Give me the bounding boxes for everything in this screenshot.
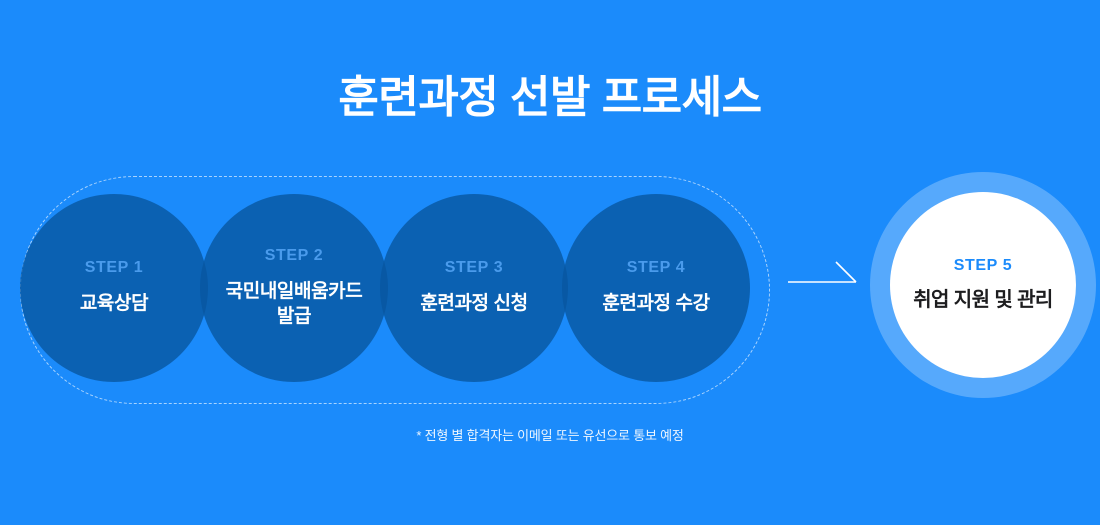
step-4-number: STEP 4	[627, 259, 685, 277]
step-3-number: STEP 3	[445, 259, 503, 277]
footnote-text: * 전형 별 합격자는 이메일 또는 유선으로 통보 예정	[0, 425, 1100, 444]
process-diagram: 훈련과정 선발 프로세스 STEP 1 교육상담 STEP 2 국민내일배움카드…	[0, 0, 1100, 525]
step-2-number: STEP 2	[265, 247, 323, 265]
process-step-1: STEP 1 교육상담	[20, 194, 208, 382]
step-5-label: 취업 지원 및 관리	[913, 287, 1052, 313]
process-step-2: STEP 2 국민내일배움카드 발급	[200, 194, 388, 382]
process-step-5: STEP 5 취업 지원 및 관리	[890, 192, 1076, 378]
step-5-number: STEP 5	[954, 257, 1012, 275]
step-2-label: 국민내일배움카드 발급	[226, 279, 363, 329]
process-step-3: STEP 3 훈련과정 신청	[380, 194, 568, 382]
step-1-number: STEP 1	[85, 259, 143, 277]
page-title: 훈련과정 선발 프로세스	[0, 74, 1100, 122]
step-4-label: 훈련과정 수강	[602, 291, 709, 316]
arrow-right-icon	[786, 258, 866, 294]
step-1-label: 교육상담	[80, 291, 148, 316]
step-3-label: 훈련과정 신청	[420, 291, 527, 316]
process-step-4: STEP 4 훈련과정 수강	[562, 194, 750, 382]
